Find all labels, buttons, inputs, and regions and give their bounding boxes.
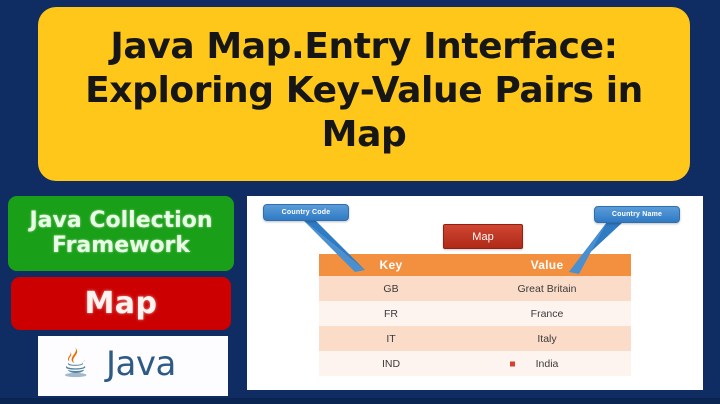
map-diagram-panel: Country Code Country Name Map Key Value … [247, 196, 703, 390]
java-logo-panel: Java [38, 336, 228, 396]
java-coffee-cup-icon [52, 343, 98, 389]
sidebar: Java Collection Framework Map Java [8, 196, 234, 396]
callout-country-name: Country Name [594, 206, 680, 223]
callout-country-name-label: Country Name [612, 211, 662, 218]
course-badge: Java Collection Framework [8, 196, 234, 271]
topic-badge: Map [11, 277, 231, 330]
topic-badge-label: Map [84, 286, 157, 321]
callout-country-code-label: Country Code [282, 209, 331, 216]
java-wordmark: Java [106, 347, 176, 385]
callout-country-code: Country Code [263, 204, 349, 221]
frame-bottom-edge [0, 398, 720, 404]
page-title: Java Map.Entry Interface: Exploring Key-… [56, 25, 672, 157]
course-badge-label: Java Collection Framework [8, 209, 234, 258]
title-banner: Java Map.Entry Interface: Exploring Key-… [38, 7, 690, 181]
callout-arrows [247, 196, 703, 390]
